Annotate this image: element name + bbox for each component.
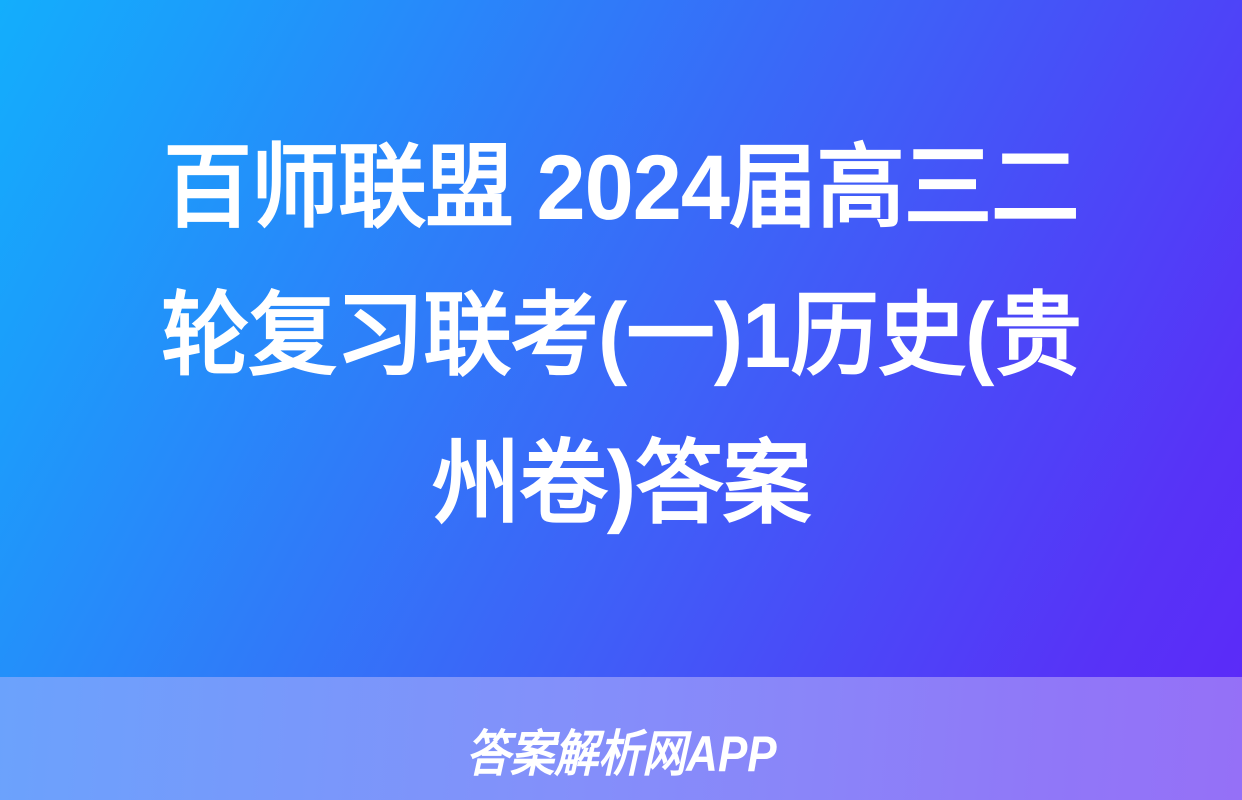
page-title: 百师联盟 2024届高三二 轮复习联考(一)1历史(贵 州卷)答案: [61, 114, 1181, 564]
hero-gradient-panel: 百师联盟 2024届高三二 轮复习联考(一)1历史(贵 州卷)答案: [0, 0, 1242, 677]
exam-answer-cover-card: 百师联盟 2024届高三二 轮复习联考(一)1历史(贵 州卷)答案 答案解析网A…: [0, 0, 1242, 800]
title-line-1: 百师联盟 2024届高三二: [83, 114, 1158, 262]
app-watermark-label: 答案解析网APP: [466, 697, 776, 781]
footer-banner: 答案解析网APP: [0, 677, 1242, 800]
title-line-3: 州卷)答案: [83, 410, 1158, 558]
title-line-2: 轮复习联考(一)1历史(贵: [83, 262, 1158, 410]
